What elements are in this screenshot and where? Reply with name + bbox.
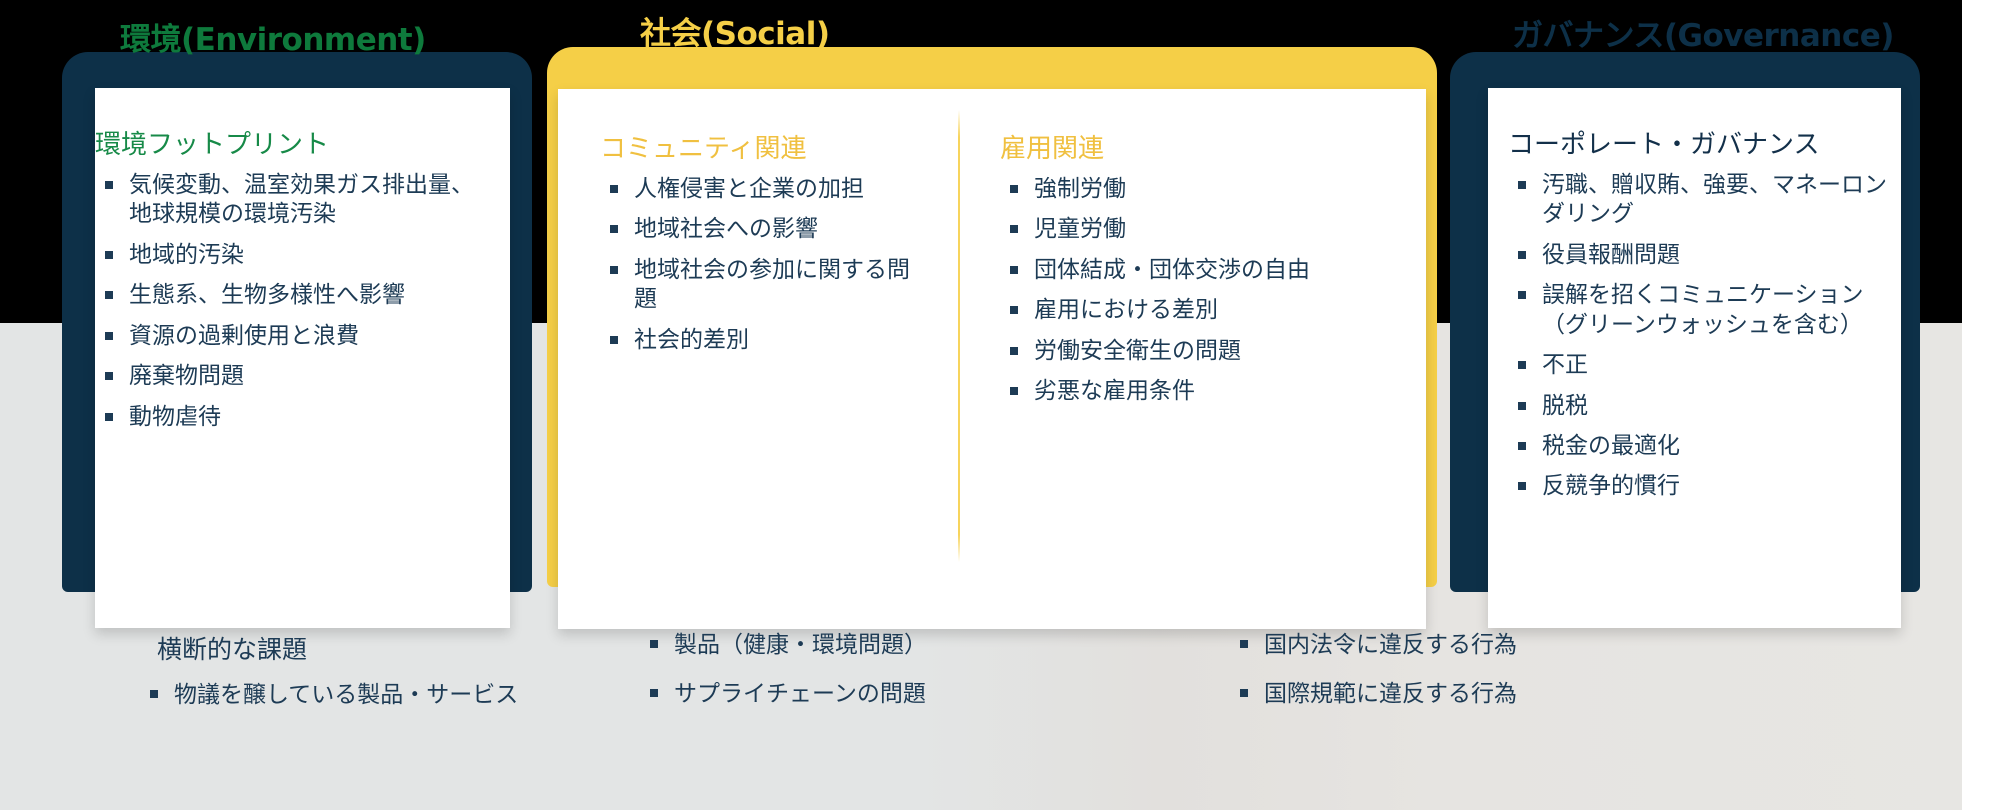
list-item: 不正 (1508, 350, 1908, 379)
list-item: 廃棄物問題 (95, 361, 475, 390)
list-item: 団体結成・団体交渉の自由 (1000, 255, 1400, 284)
list-employment-related: 強制労働 児童労働 団体結成・団体交渉の自由 雇用における差別 労働安全衛生の問… (1000, 174, 1400, 406)
cross-cutting-group-3: 国内法令に違反する行為 国際規範に違反する行為 (1230, 630, 1690, 729)
column-corporate-governance: コーポレート・ガバナンス 汚職、贈収賄、強要、マネーロンダリング 役員報酬問題 … (1508, 130, 1908, 512)
list-item: 強制労働 (1000, 174, 1400, 203)
list-item: 国際規範に違反する行為 (1230, 679, 1690, 708)
column-heading-employment-related: 雇用関連 (1000, 134, 1400, 164)
list-item: 社会的差別 (600, 325, 930, 354)
column-heading-environmental-footprint: 環境フットプリント (95, 130, 475, 160)
list-item: 地域社会への影響 (600, 214, 930, 243)
column-employment-related: 雇用関連 強制労働 児童労働 団体結成・団体交渉の自由 雇用における差別 労働安… (1000, 134, 1400, 417)
pillar-title-environment: 環境(Environment) (120, 14, 426, 59)
list-item: 児童労働 (1000, 214, 1400, 243)
list-item: 資源の過剰使用と浪費 (95, 321, 475, 350)
list-item: 税金の最適化 (1508, 431, 1908, 460)
list-item: 生態系、生物多様性へ影響 (95, 280, 475, 309)
list-item: 誤解を招くコミュニケーション（グリーンウォッシュを含む） (1508, 280, 1908, 339)
column-environmental-footprint: 環境フットプリント 気候変動、温室効果ガス排出量、地球規模の環境汚染 地域的汚染… (95, 130, 475, 442)
pillar-title-social: 社会(Social) (640, 8, 830, 53)
list-item: 人権侵害と企業の加担 (600, 174, 930, 203)
list-item: 物議を醸している製品・サービス (140, 680, 580, 709)
list-item: 脱税 (1508, 391, 1908, 420)
cross-cutting-section: 横断的な課題 物議を醸している製品・サービス 製品（健康・環境問題） サプライチ… (0, 630, 2000, 750)
list-environmental-footprint: 気候変動、温室効果ガス排出量、地球規模の環境汚染 地域的汚染 生態系、生物多様性… (95, 170, 475, 431)
list-item: 地域的汚染 (95, 240, 475, 269)
list-item: サプライチェーンの問題 (640, 679, 1100, 708)
list-item: 汚職、贈収賄、強要、マネーロンダリング (1508, 170, 1908, 229)
list-item: 動物虐待 (95, 402, 475, 431)
column-heading-corporate-governance: コーポレート・ガバナンス (1508, 130, 1908, 160)
list-item: 反競争的慣行 (1508, 471, 1908, 500)
cross-cutting-group-2: 製品（健康・環境問題） サプライチェーンの問題 (640, 630, 1100, 729)
list-cross-cutting-3: 国内法令に違反する行為 国際規範に違反する行為 (1230, 630, 1690, 709)
list-corporate-governance: 汚職、贈収賄、強要、マネーロンダリング 役員報酬問題 誤解を招くコミュニケーショ… (1508, 170, 1908, 501)
pillar-title-governance: ガバナンス(Governance) (1512, 10, 1894, 55)
cross-cutting-group-1: 物議を醸している製品・サービス (140, 680, 580, 729)
social-column-divider (958, 110, 960, 562)
cross-cutting-heading-wrap: 横断的な課題 (155, 630, 575, 680)
column-heading-community-related: コミュニティ関連 (600, 134, 930, 164)
column-community-related: コミュニティ関連 人権侵害と企業の加担 地域社会への影響 地域社会の参加に関する… (600, 134, 930, 365)
list-item: 気候変動、温室効果ガス排出量、地球規模の環境汚染 (95, 170, 475, 229)
list-item: 雇用における差別 (1000, 295, 1400, 324)
list-item: 地域社会の参加に関する問題 (600, 255, 930, 314)
list-item: 労働安全衛生の問題 (1000, 336, 1400, 365)
list-cross-cutting-2: 製品（健康・環境問題） サプライチェーンの問題 (640, 630, 1100, 709)
list-item: 国内法令に違反する行為 (1230, 630, 1690, 659)
cross-cutting-title: 横断的な課題 (157, 630, 575, 666)
list-item: 役員報酬問題 (1508, 240, 1908, 269)
list-community-related: 人権侵害と企業の加担 地域社会への影響 地域社会の参加に関する問題 社会的差別 (600, 174, 930, 354)
slide-canvas: 環境(Environment) 環境フットプリント 気候変動、温室効果ガス排出量… (0, 0, 2000, 810)
list-cross-cutting-1: 物議を醸している製品・サービス (140, 680, 580, 709)
list-item: 製品（健康・環境問題） (640, 630, 1100, 659)
list-item: 劣悪な雇用条件 (1000, 376, 1400, 405)
